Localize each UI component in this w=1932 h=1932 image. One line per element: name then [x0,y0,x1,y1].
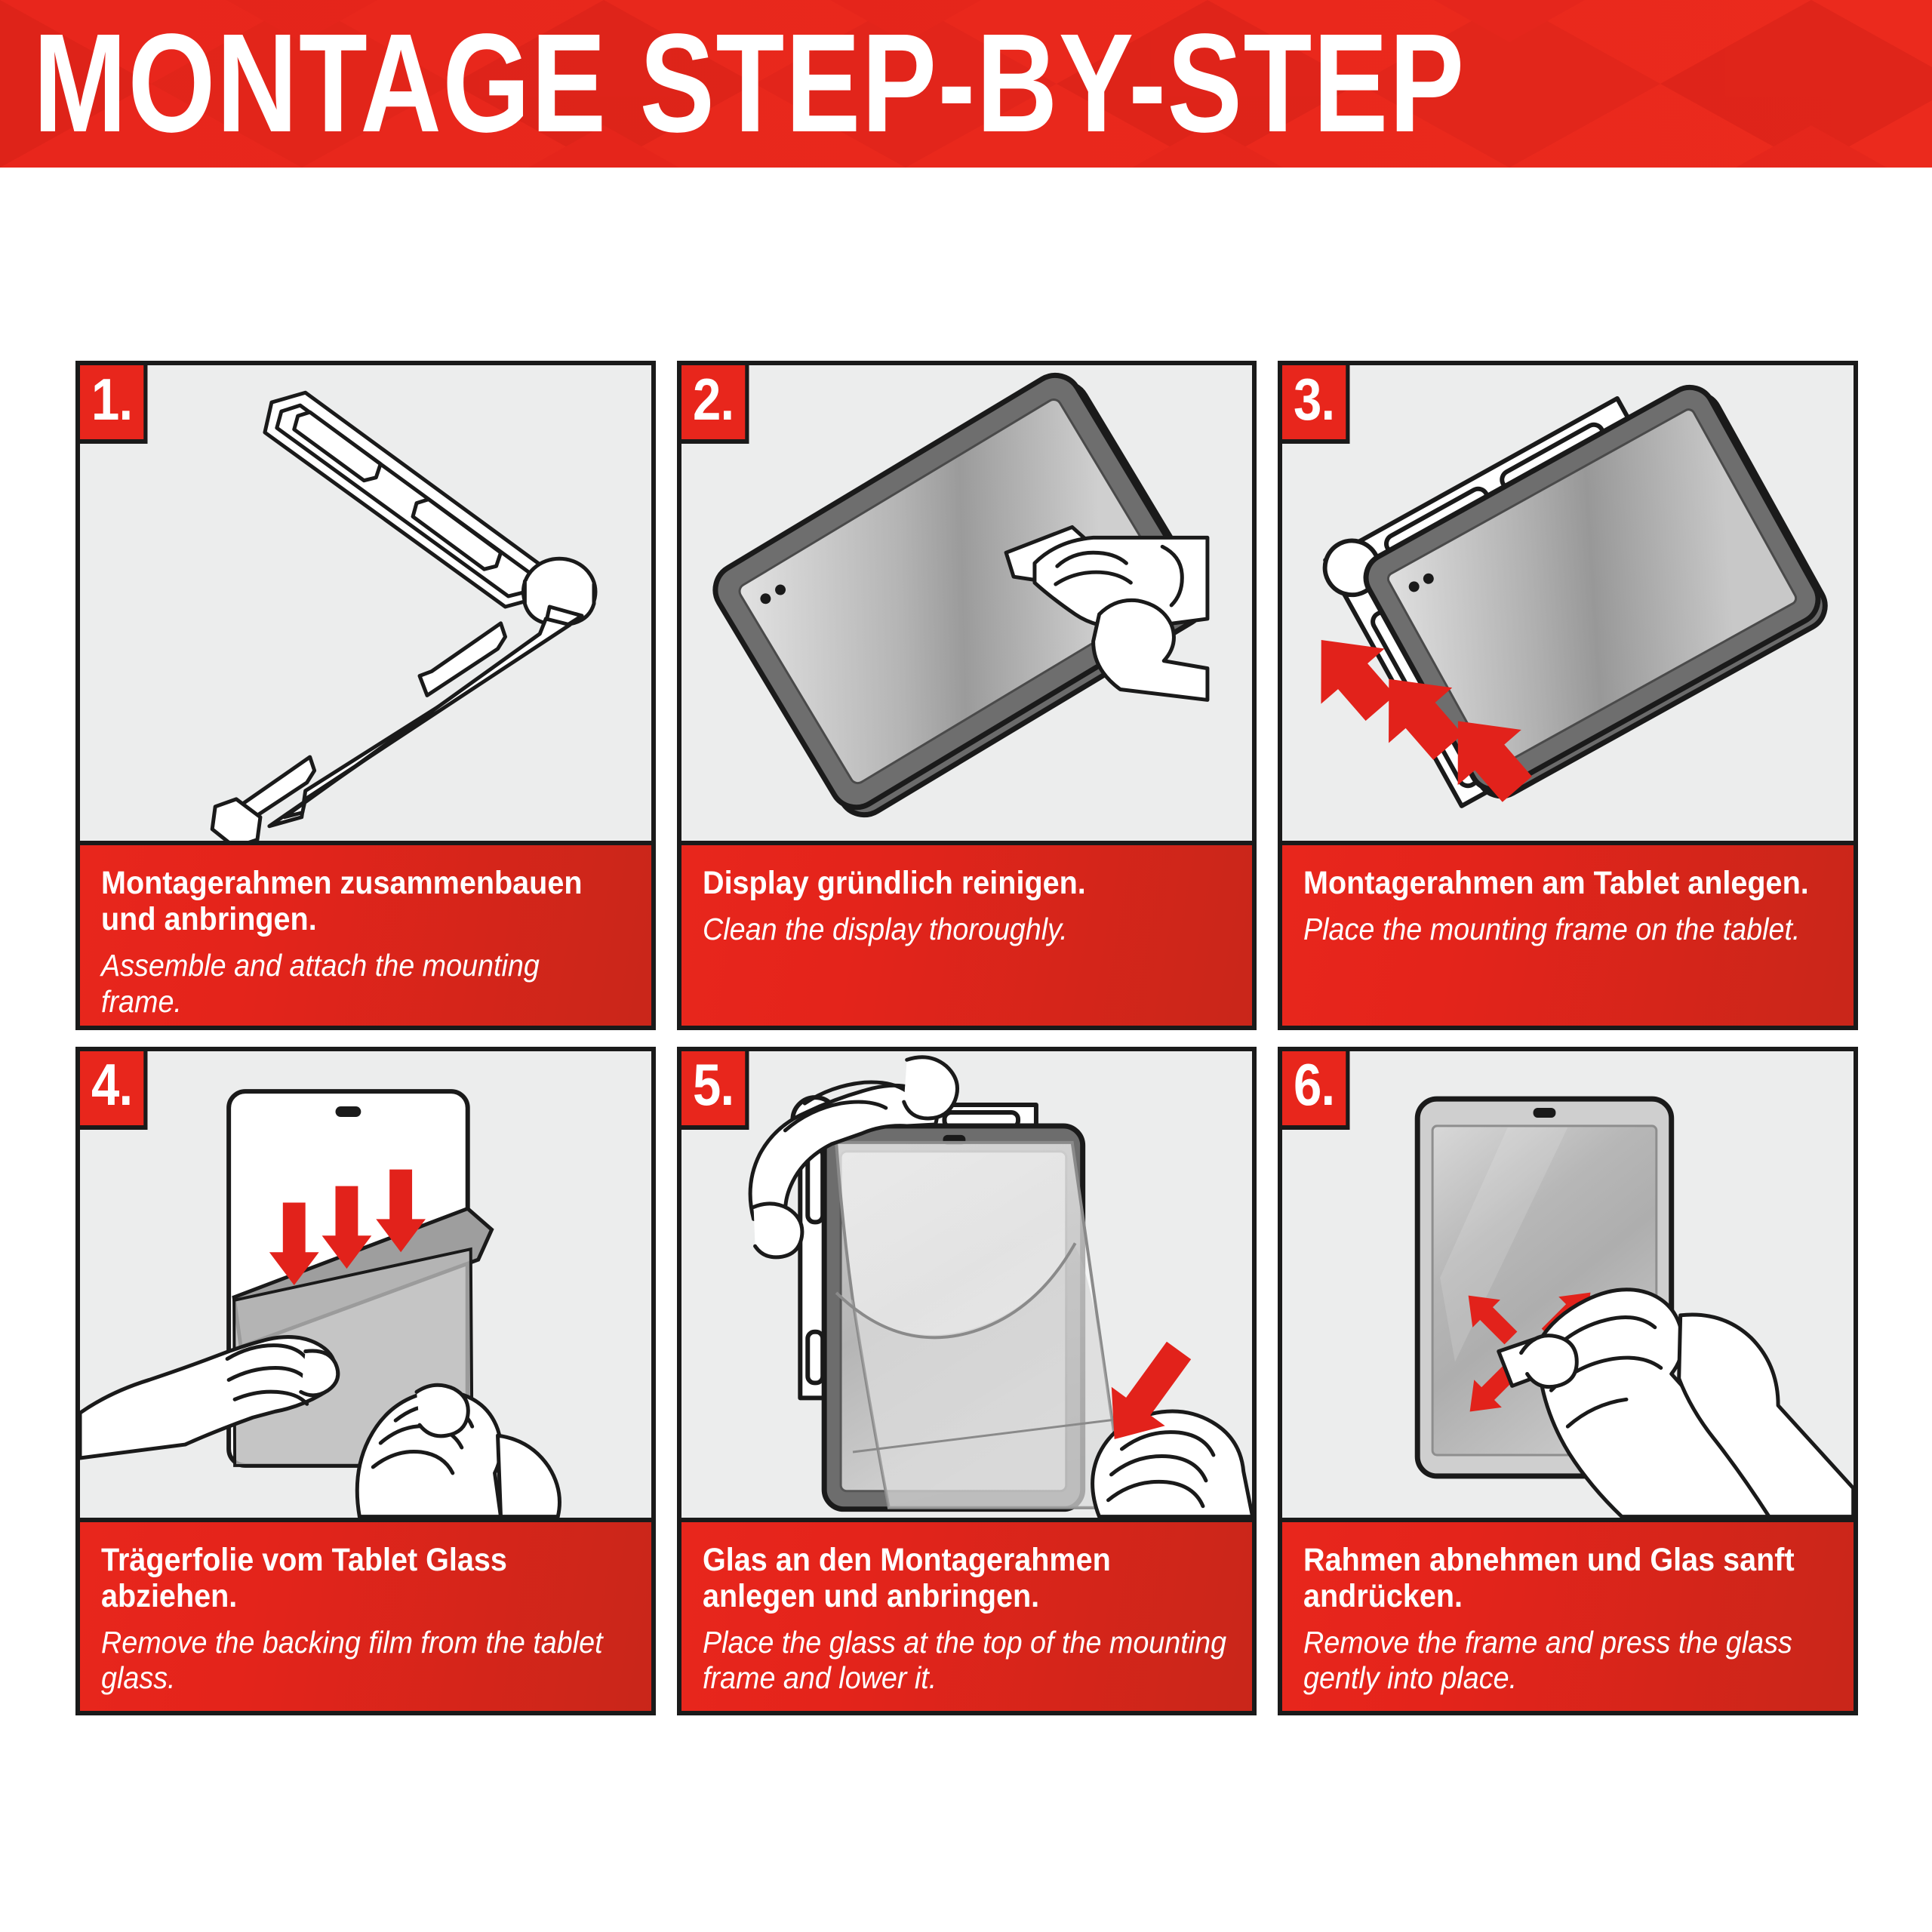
step-caption-4: Trägerfolie vom Tablet Glass abziehen. R… [80,1518,651,1713]
step-number-badge-2: 2. [681,365,749,444]
step-4-illustration [80,1051,651,1518]
step-caption-en-5: Place the glass at the top of the mounti… [703,1625,1228,1697]
peel-backing-film-drawing [80,1051,651,1518]
step-caption-de-5: Glas an den Montagerahmen anlegen und an… [703,1542,1228,1614]
step-caption-5: Glas an den Montagerahmen anlegen und an… [681,1518,1253,1713]
step-caption-1: Montagerahmen zusammenbauen und anbringe… [80,841,651,1030]
step-panel-2: 2. Display gründlich reinigen. Clean the… [677,361,1257,1030]
step-caption-6: Rahmen abnehmen und Glas sanft andrücken… [1282,1518,1854,1713]
step-number-badge-6: 6. [1282,1051,1349,1130]
steps-grid: 1. Montagerahmen zusammenbauen und anbri… [75,361,1858,1715]
step-caption-3: Montagerahmen am Tablet anlegen. Place t… [1282,841,1854,1026]
step-caption-de-6: Rahmen abnehmen und Glas sanft andrücken… [1303,1542,1829,1614]
step-caption-de-2: Display gründlich reinigen. [703,865,1228,901]
step-3-illustration [1282,365,1854,841]
step-panel-1: 1. Montagerahmen zusammenbauen und anbri… [75,361,656,1030]
step-1-illustration [80,365,651,841]
step-6-illustration [1282,1051,1854,1518]
step-number-badge-1: 1. [80,365,147,444]
step-caption-de-4: Trägerfolie vom Tablet Glass abziehen. [101,1542,626,1614]
step-panel-3: 3. Montagerahmen am Tablet anlegen. Plac… [1278,361,1858,1030]
step-panel-4: 4. Trägerfolie vom Tablet Glass abziehen… [75,1047,656,1716]
tablet-cleaning-drawing [681,365,1253,841]
step-panel-5: 5. Glas an den Montagerahmen anlegen und… [677,1047,1257,1716]
step-number-badge-4: 4. [80,1051,147,1130]
step-number-badge-5: 5. [681,1051,749,1130]
step-5-illustration [681,1051,1253,1518]
step-caption-en-1: Assemble and attach the mounting frame. [101,948,626,1020]
lower-glass-drawing [681,1051,1253,1518]
step-number-badge-3: 3. [1282,365,1349,444]
mounting-frame-drawing [80,365,651,841]
instruction-sheet: MONTAGE STEP-BY-STEP [0,0,1932,1932]
step-panel-6: 6. Rahmen abnehmen und Glas sanft andrüc… [1278,1047,1858,1716]
step-caption-de-1: Montagerahmen zusammenbauen und anbringe… [101,865,626,937]
step-2-illustration [681,365,1253,841]
step-caption-2: Display gründlich reinigen. Clean the di… [681,841,1253,1026]
step-caption-en-3: Place the mounting frame on the tablet. [1303,912,1829,948]
step-caption-en-4: Remove the backing film from the tablet … [101,1625,626,1697]
step-caption-en-6: Remove the frame and press the glass gen… [1303,1625,1829,1697]
header-banner: MONTAGE STEP-BY-STEP [0,0,1932,168]
press-glass-drawing [1282,1051,1854,1518]
step-caption-en-2: Clean the display thoroughly. [703,912,1228,948]
frame-on-tablet-drawing [1282,365,1854,841]
step-caption-de-3: Montagerahmen am Tablet anlegen. [1303,865,1829,901]
page-title: MONTAGE STEP-BY-STEP [33,14,1466,154]
